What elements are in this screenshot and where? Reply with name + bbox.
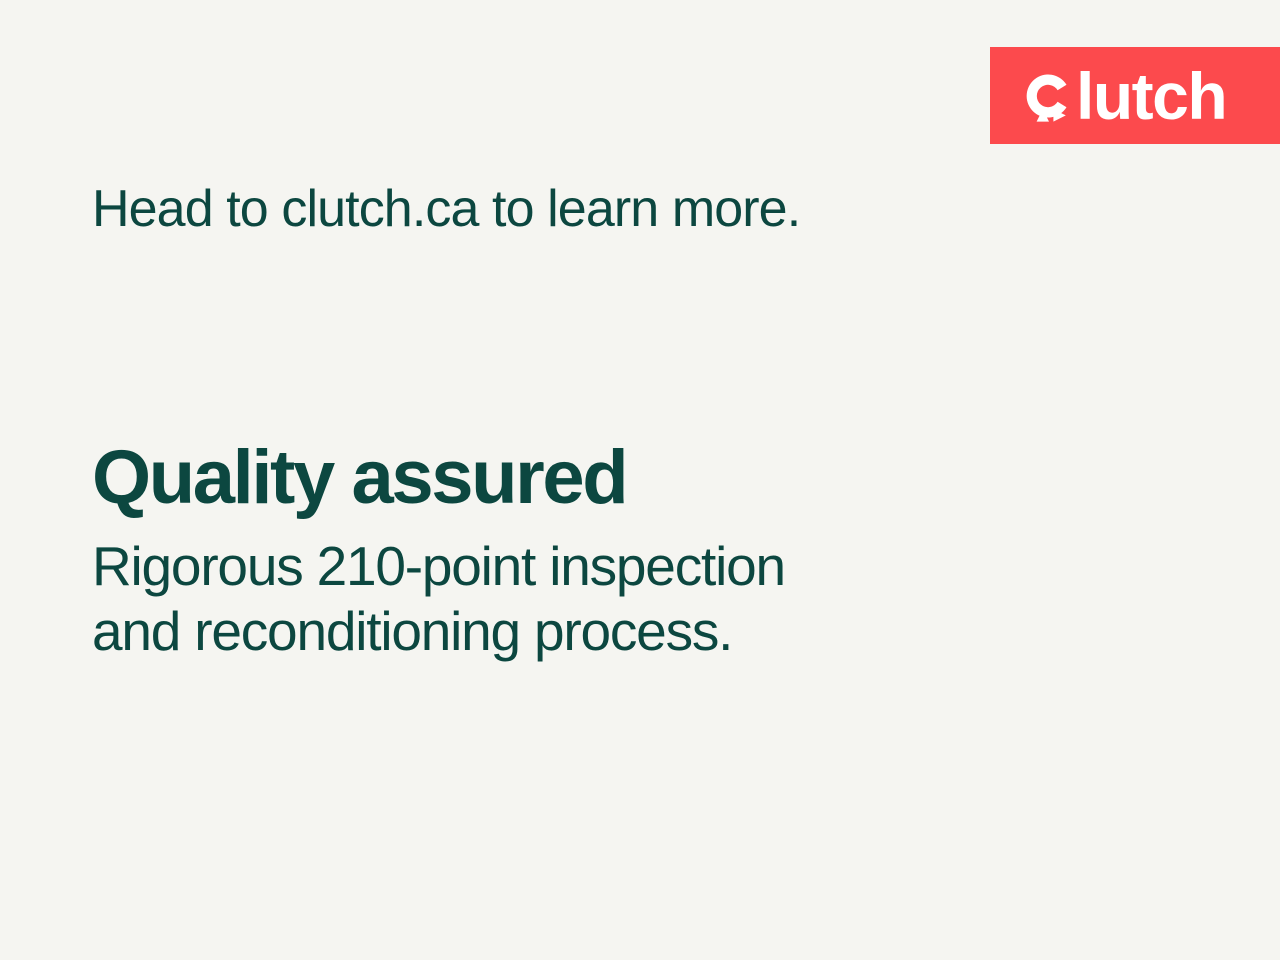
clutch-logo-lockup: lutch: [1022, 68, 1226, 124]
clutch-wordmark: lutch: [1076, 68, 1226, 124]
promo-slide: lutch Head to clutch.ca to learn more. Q…: [0, 0, 1280, 960]
page-headline: Quality assured: [92, 436, 1092, 520]
subcopy: Rigorous 210-point inspection and recond…: [92, 534, 1092, 664]
main-content-block: Quality assured Rigorous 210-point inspe…: [92, 436, 1092, 664]
subcopy-line-1: Rigorous 210-point inspection: [92, 534, 1092, 599]
clutch-logo-banner[interactable]: lutch: [990, 47, 1280, 144]
tagline-text: Head to clutch.ca to learn more.: [92, 178, 800, 240]
subcopy-line-2: and reconditioning process.: [92, 599, 1092, 664]
clutch-c-mark-icon: [1022, 68, 1074, 124]
